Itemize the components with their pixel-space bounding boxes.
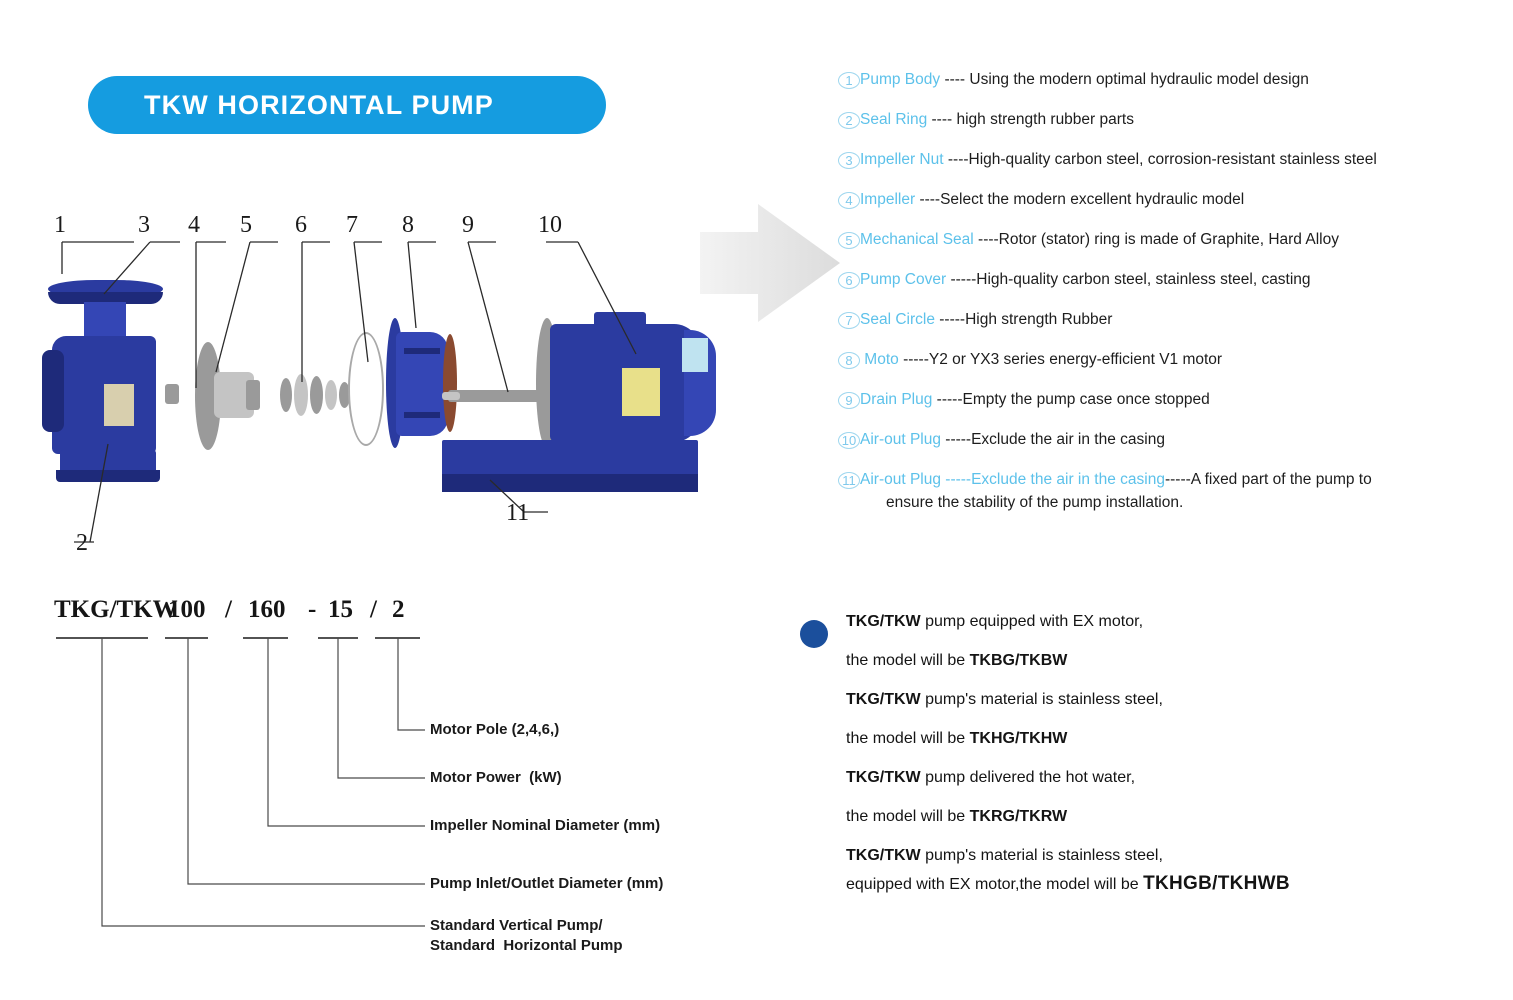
callout-10: 10 xyxy=(538,212,562,239)
legend-desc-1: ---- Using the modern optimal hydraulic … xyxy=(940,71,1309,88)
note-line-5: TKG/TKW pump delivered the hot water, xyxy=(800,768,1420,807)
callout-2: 2 xyxy=(76,530,88,557)
note-line-7: TKG/TKW pump's material is stainless ste… xyxy=(800,846,1420,874)
legend-number-8: 8 xyxy=(838,352,860,369)
note-8-model: TKHGB/TKHWB xyxy=(1143,873,1290,894)
legend-number-11: 11 xyxy=(838,472,860,489)
note-7-rest: pump's material is stainless steel, xyxy=(921,847,1163,864)
legend-item-5: 5 Mechanical Seal ----Rotor (stator) rin… xyxy=(838,230,1498,270)
legend-number-5: 5 xyxy=(838,232,860,249)
callout-1: 1 xyxy=(54,212,66,239)
legend-name-2: Seal Ring xyxy=(860,111,927,128)
note-3-code: TKG/TKW xyxy=(846,691,921,708)
legend-item-2: 2 Seal Ring ---- high strength rubber pa… xyxy=(838,110,1498,150)
note-line-4: the model will be TKHG/TKHW xyxy=(800,729,1420,768)
exploded-pump-diagram: 1 3 4 5 6 7 8 9 10 2 11 xyxy=(38,212,718,562)
bullet-circle-icon xyxy=(800,620,828,648)
legend-number-4: 4 xyxy=(838,192,860,209)
nom-label-impeller-diameter: Impeller Nominal Diameter (mm) xyxy=(430,816,660,835)
callout-leader-lines xyxy=(38,212,718,562)
callout-4: 4 xyxy=(188,212,200,239)
callout-6: 6 xyxy=(295,212,307,239)
note-line-2: the model will be TKBG/TKBW xyxy=(800,651,1420,690)
legend-desc-10: -----Exclude the air in the casing xyxy=(941,431,1165,448)
callout-5: 5 xyxy=(240,212,252,239)
callout-9: 9 xyxy=(462,212,474,239)
legend-name-7: Seal Circle xyxy=(860,311,935,328)
legend-item-6: 6 Pump Cover -----High-quality carbon st… xyxy=(838,270,1498,310)
legend-number-3: 3 xyxy=(838,152,860,169)
legend-desc-2: ---- high strength rubber parts xyxy=(927,111,1134,128)
page-title-banner: TKW HORIZONTAL PUMP xyxy=(88,76,606,134)
legend-desc-9: -----Empty the pump case once stopped xyxy=(932,391,1209,408)
model-nomenclature-diagram: TKG/TKW 100 / 160 - 15 / 2 Motor Pole (2… xyxy=(40,596,740,976)
note-2-model: TKBG/TKBW xyxy=(970,652,1068,669)
legend-item-4: 4 Impeller ----Select the modern excelle… xyxy=(838,190,1498,230)
note-7-code: TKG/TKW xyxy=(846,847,921,864)
note-1-rest: pump equipped with EX motor, xyxy=(921,613,1143,630)
callout-11: 11 xyxy=(506,500,529,527)
legend-name-4: Impeller xyxy=(860,191,915,208)
note-line-8: equipped with EX motor,the model will be… xyxy=(800,874,1420,902)
legend-desc-continuation-11: ensure the stability of the pump install… xyxy=(860,493,1372,513)
nom-label-standard-horizontal-pump: Standard Horizontal Pump xyxy=(430,936,623,955)
legend-item-1: 1 Pump Body ---- Using the modern optima… xyxy=(838,70,1498,110)
legend-desc-4: ----Select the modern excellent hydrauli… xyxy=(915,191,1244,208)
note-5-rest: pump delivered the hot water, xyxy=(921,769,1135,786)
note-2-text: the model will be xyxy=(846,652,970,669)
legend-desc-8: -----Y2 or YX3 series energy-efficient V… xyxy=(899,351,1222,368)
note-3-rest: pump's material is stainless steel, xyxy=(921,691,1163,708)
legend-name-5: Mechanical Seal xyxy=(860,231,974,248)
legend-item-9: 9 Drain Plug -----Empty the pump case on… xyxy=(838,390,1498,430)
legend-name-11: Air-out Plug xyxy=(860,471,941,488)
legend-item-8: 8 Moto -----Y2 or YX3 series energy-effi… xyxy=(838,350,1498,390)
legend-desc-blue-11: -----Exclude the air in the casing xyxy=(941,471,1165,488)
nomenclature-leader-lines xyxy=(40,596,740,976)
callout-3: 3 xyxy=(138,212,150,239)
note-4-model: TKHG/TKHW xyxy=(970,730,1068,747)
legend-number-6: 6 xyxy=(838,272,860,289)
legend-number-10: 10 xyxy=(838,432,860,449)
note-5-code: TKG/TKW xyxy=(846,769,921,786)
note-line-3: TKG/TKW pump's material is stainless ste… xyxy=(800,690,1420,729)
legend-number-9: 9 xyxy=(838,392,860,409)
legend-name-3: Impeller Nut xyxy=(860,151,944,168)
nom-label-motor-pole: Motor Pole (2,4,6,) xyxy=(430,720,559,739)
parts-legend-list: 1 Pump Body ---- Using the modern optima… xyxy=(838,70,1498,522)
nom-label-motor-power: Motor Power (kW) xyxy=(430,768,562,787)
legend-number-1: 1 xyxy=(838,72,860,89)
nom-label-standard-vertical-pump: Standard Vertical Pump/ xyxy=(430,916,603,935)
right-arrow-icon xyxy=(700,198,840,328)
legend-name-6: Pump Cover xyxy=(860,271,946,288)
legend-desc-5: ----Rotor (stator) ring is made of Graph… xyxy=(974,231,1339,248)
page-title: TKW HORIZONTAL PUMP xyxy=(88,90,494,121)
legend-item-10: 10 Air-out Plug -----Exclude the air in … xyxy=(838,430,1498,470)
note-line-1: TKG/TKW pump equipped with EX motor, xyxy=(800,612,1420,651)
note-4-text: the model will be xyxy=(846,730,970,747)
legend-name-8: Moto xyxy=(860,351,899,368)
note-8-text: equipped with EX motor,the model will be xyxy=(846,876,1143,893)
legend-desc-6: -----High-quality carbon steel, stainles… xyxy=(946,271,1310,288)
callout-8: 8 xyxy=(402,212,414,239)
legend-number-2: 2 xyxy=(838,112,860,129)
note-6-text: the model will be xyxy=(846,808,970,825)
nom-label-inlet-outlet-diameter: Pump Inlet/Outlet Diameter (mm) xyxy=(430,874,663,893)
note-line-6: the model will be TKRG/TKRW xyxy=(800,807,1420,846)
note-6-model: TKRG/TKRW xyxy=(970,808,1067,825)
model-variant-notes: TKG/TKW pump equipped with EX motor, the… xyxy=(800,612,1420,902)
legend-item-3: 3 Impeller Nut ----High-quality carbon s… xyxy=(838,150,1498,190)
legend-desc-3: ----High-quality carbon steel, corrosion… xyxy=(944,151,1377,168)
callout-7: 7 xyxy=(346,212,358,239)
legend-name-10: Air-out Plug xyxy=(860,431,941,448)
legend-desc-11: -----A fixed part of the pump to xyxy=(1165,471,1372,488)
legend-desc-7: -----High strength Rubber xyxy=(935,311,1112,328)
legend-item-7: 7 Seal Circle -----High strength Rubber xyxy=(838,310,1498,350)
note-1-code: TKG/TKW xyxy=(846,613,921,630)
legend-number-7: 7 xyxy=(838,312,860,329)
legend-item-11: 11 Air-out Plug -----Exclude the air in … xyxy=(838,470,1498,522)
legend-name-1: Pump Body xyxy=(860,71,940,88)
legend-name-9: Drain Plug xyxy=(860,391,932,408)
